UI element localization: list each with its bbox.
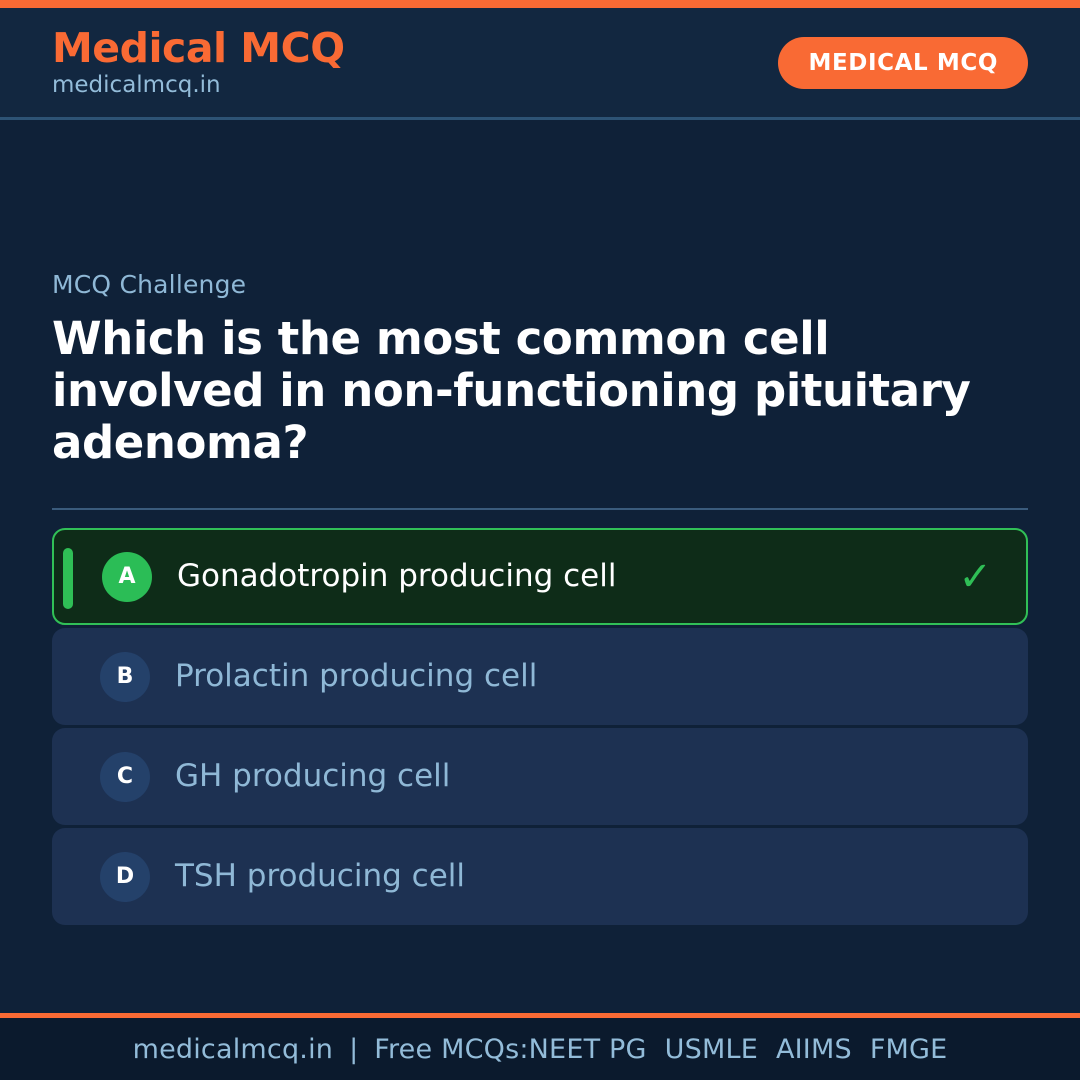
options-list: AGonadotropin producing cell✓BProlactin … (52, 528, 1028, 925)
brand-block: Medical MCQ medicalmcq.in (52, 27, 345, 98)
brand-badge: MEDICAL MCQ (778, 37, 1028, 89)
footer-prefix: Free MCQs: (374, 1034, 528, 1065)
option-letter-badge: C (100, 752, 150, 802)
mcq-card: Medical MCQ medicalmcq.in MEDICAL MCQ MC… (0, 0, 1080, 1080)
footer-exam-item: AIIMS (776, 1034, 852, 1065)
section-divider (52, 508, 1028, 510)
option-c[interactable]: CGH producing cell (52, 728, 1028, 825)
footer-exam-item: NEET PG (529, 1034, 647, 1065)
option-letter-badge: D (100, 852, 150, 902)
top-accent-strip (0, 0, 1080, 8)
option-label: Prolactin producing cell (175, 658, 537, 695)
option-label: Gonadotropin producing cell (177, 558, 616, 595)
main-content: MCQ Challenge Which is the most common c… (0, 120, 1080, 1013)
checkmark-icon: ✓ (958, 557, 992, 597)
brand-url: medicalmcq.in (52, 73, 345, 98)
footer-exam-item: FMGE (870, 1034, 948, 1065)
correct-accent-bar (63, 548, 73, 609)
option-letter-badge: B (100, 652, 150, 702)
option-b[interactable]: BProlactin producing cell (52, 628, 1028, 725)
kicker-label: MCQ Challenge (52, 270, 1028, 299)
footer-exam-item: USMLE (665, 1034, 758, 1065)
option-a[interactable]: AGonadotropin producing cell✓ (52, 528, 1028, 625)
question-text: Which is the most common cell involved i… (52, 313, 972, 468)
footer-separator: | (333, 1034, 374, 1065)
option-letter-badge: A (102, 552, 152, 602)
question-zone: MCQ Challenge Which is the most common c… (52, 270, 1028, 468)
footer-bar: medicalmcq.in | Free MCQs: NEET PGUSMLEA… (0, 1018, 1080, 1080)
brand-title: Medical MCQ (52, 27, 345, 70)
option-label: GH producing cell (175, 758, 450, 795)
option-d[interactable]: DTSH producing cell (52, 828, 1028, 925)
header-bar: Medical MCQ medicalmcq.in MEDICAL MCQ (0, 8, 1080, 120)
option-label: TSH producing cell (175, 858, 465, 895)
footer-exam-list: NEET PGUSMLEAIIMSFMGE (529, 1034, 948, 1065)
footer-site: medicalmcq.in (133, 1034, 334, 1065)
